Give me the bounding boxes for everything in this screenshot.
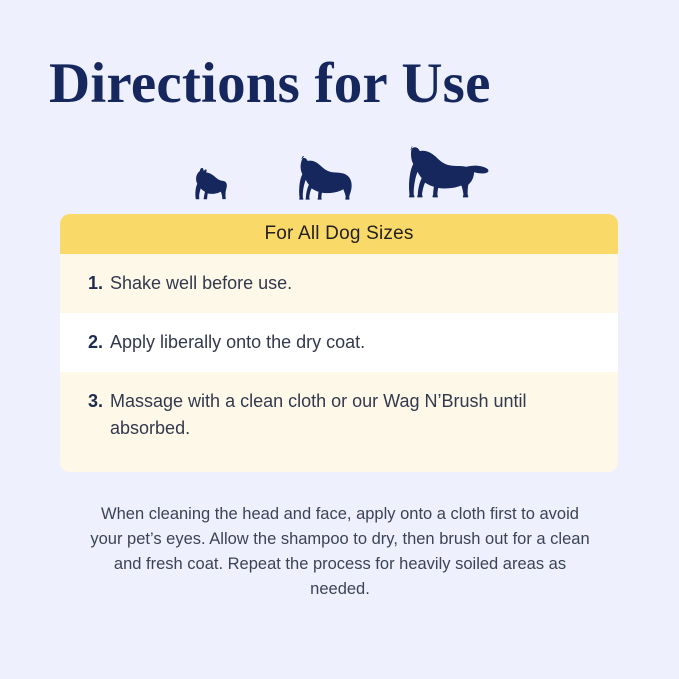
step-text-2: Apply liberally onto the dry coat. [110, 329, 592, 356]
instruction-step-3: 3. Massage with a clean cloth or our Wag… [60, 372, 618, 458]
card-bottom-padding [60, 458, 618, 472]
instruction-step-2: 2. Apply liberally onto the dry coat. [60, 313, 618, 372]
page-title: Directions for Use [49, 52, 491, 116]
footer-note: When cleaning the head and face, apply o… [88, 502, 592, 602]
dog-large-silhouette-icon [394, 146, 496, 200]
step-number-3: 3. [88, 388, 110, 415]
instruction-step-1: 1. Shake well before use. [60, 254, 618, 313]
dog-small-silhouette-icon [188, 166, 232, 200]
dog-size-illustration-row [0, 138, 679, 200]
step-number-2: 2. [88, 329, 110, 356]
dog-medium-silhouette-icon [286, 156, 362, 200]
step-text-1: Shake well before use. [110, 270, 592, 297]
directions-for-use-page: Directions for Use For All Dog Sizes 1. … [0, 0, 679, 679]
step-text-3: Massage with a clean cloth or our Wag N’… [110, 388, 592, 442]
step-number-1: 1. [88, 270, 110, 297]
instructions-card: For All Dog Sizes 1. Shake well before u… [60, 214, 618, 472]
card-header-for-all-dog-sizes: For All Dog Sizes [60, 214, 618, 254]
